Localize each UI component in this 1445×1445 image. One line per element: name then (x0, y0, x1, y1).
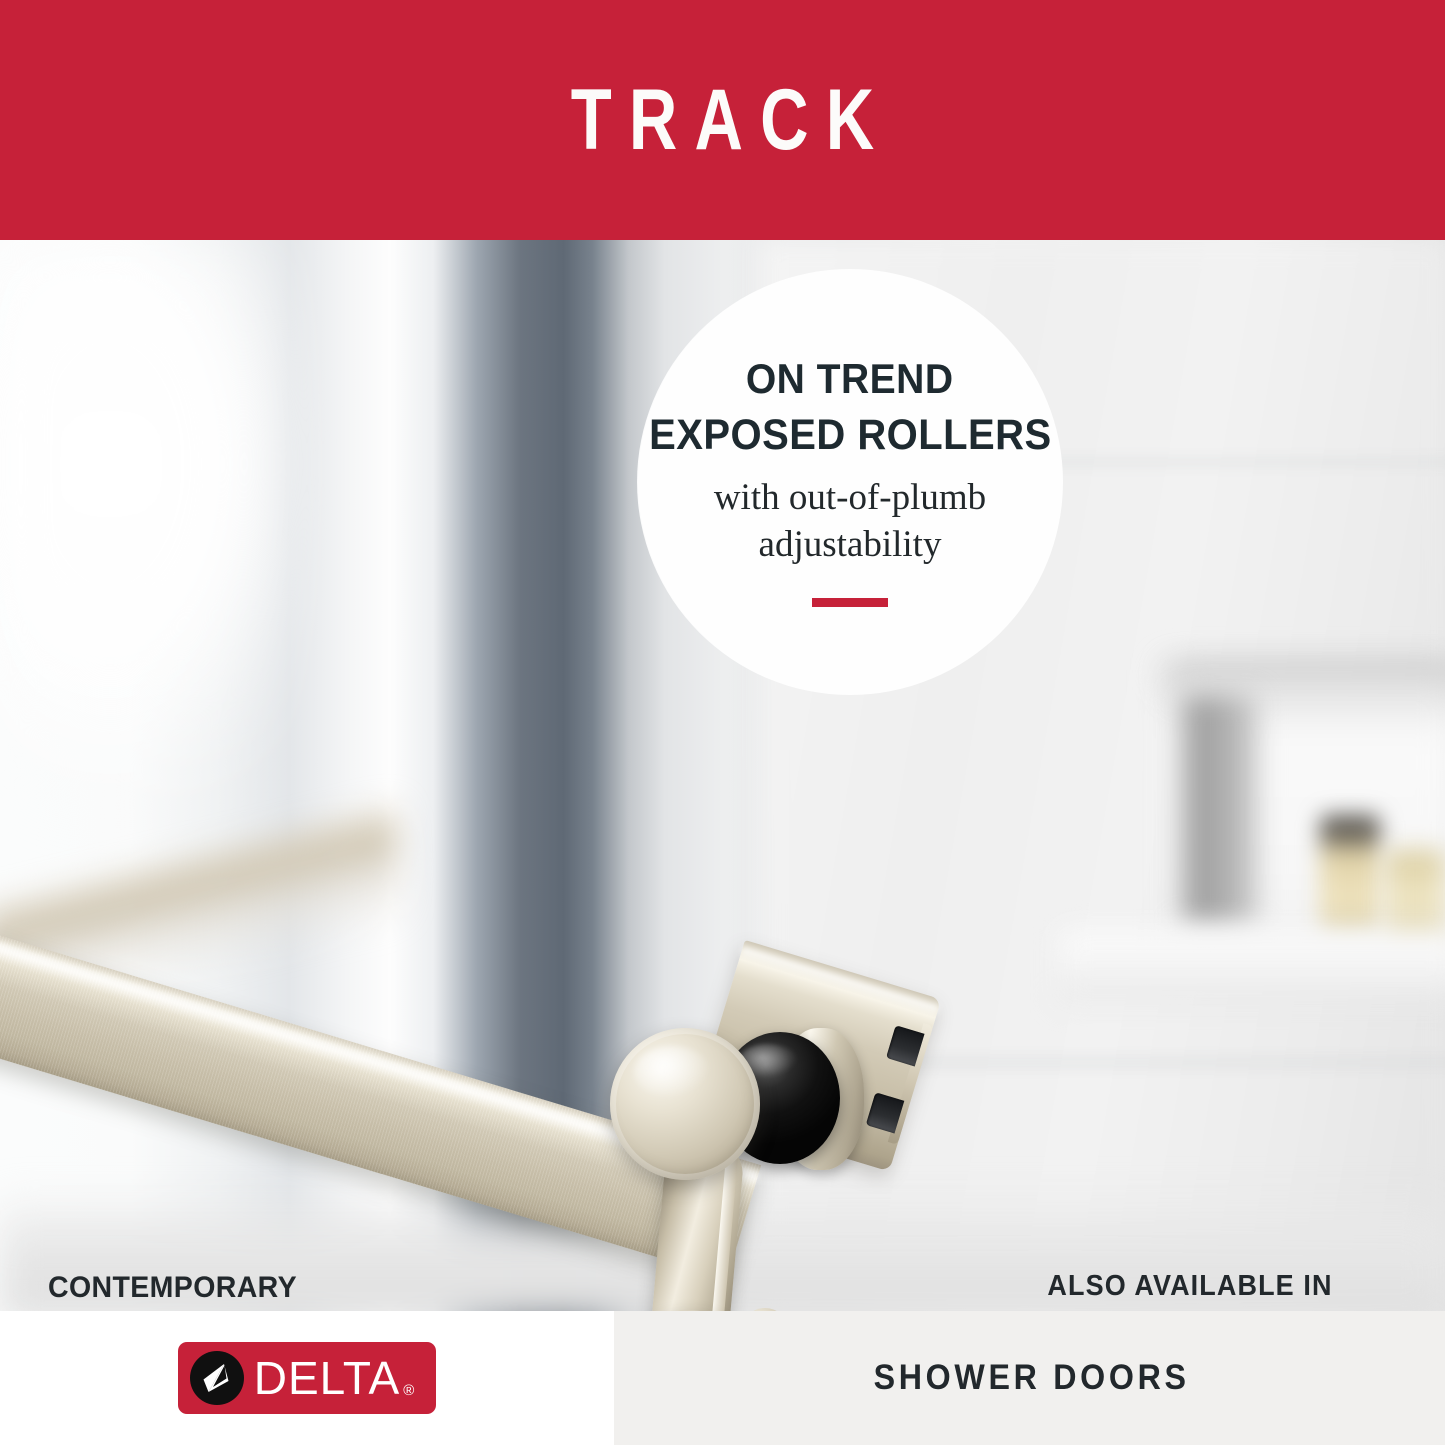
track-channel-highlight (739, 947, 939, 1019)
page-title: TRACK (554, 77, 892, 163)
delta-wordmark: DELTA (254, 1355, 400, 1401)
product-finish-label-line1: CONTEMPORARY (47, 1270, 299, 1307)
footer: DELTA ® SHOWER DOORS (0, 1311, 1445, 1445)
available-finishes: ALSO AVAILABLE IN CHROME BRONZE (960, 1270, 1420, 1311)
callout-subtext-line1: with out-of-plumb (714, 474, 986, 521)
footer-category-label: SHOWER DOORS (870, 1358, 1190, 1398)
product-infographic: TRACK (0, 0, 1445, 1445)
background-shelf (1060, 930, 1445, 1000)
footer-brand-area: DELTA ® (0, 1311, 614, 1445)
delta-logo[interactable]: DELTA ® (178, 1342, 437, 1414)
callout-headline-line1: ON TREND (746, 357, 954, 401)
roller-assembly (600, 1020, 940, 1311)
background-bottle-one (1320, 815, 1380, 935)
callout-subtext-line2: adjustability (759, 521, 942, 568)
available-finishes-title: ALSO AVAILABLE IN (976, 1270, 1404, 1303)
header-banner: TRACK (0, 0, 1445, 240)
callout-accent-dash (812, 598, 888, 607)
callout-badge: ON TREND EXPOSED ROLLERS with out-of-plu… (638, 270, 1062, 694)
delta-registered-mark: ® (403, 1382, 414, 1405)
callout-headline-line2: EXPOSED ROLLERS (649, 413, 1052, 458)
background-jar (1180, 695, 1258, 925)
delta-triangle-icon (190, 1351, 244, 1405)
roller-cap-top-highlight (634, 1046, 710, 1098)
product-photo: ON TREND EXPOSED ROLLERS with out-of-plu… (0, 240, 1445, 1311)
footer-category-area: SHOWER DOORS (614, 1311, 1445, 1445)
product-finish-label: CONTEMPORARY TRACK IN BRUSHED NICKEL (47, 1270, 299, 1311)
